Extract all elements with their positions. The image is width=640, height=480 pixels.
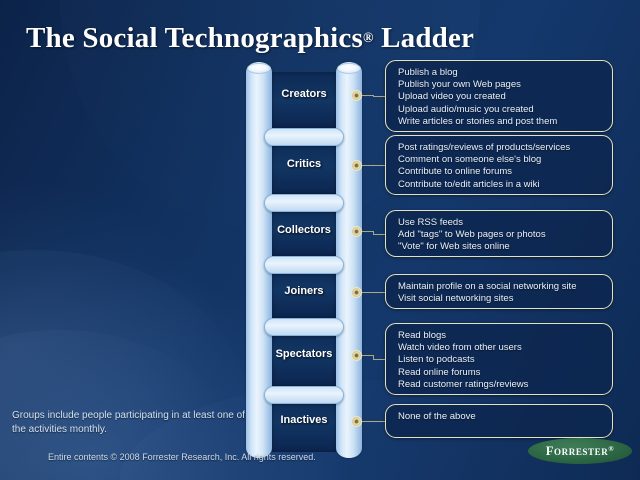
connector-line-h-spectators (362, 355, 373, 356)
forrester-logo: Forrester® (528, 438, 632, 464)
callout-activity: "Vote" for Web sites online (398, 241, 604, 253)
callout-activity: Use RSS feeds (398, 217, 604, 229)
ladder-step-label-collectors: Collectors (260, 224, 348, 236)
ladder-rail-left-cap (247, 63, 271, 74)
callout-activity: Visit social networking sites (398, 293, 604, 305)
page-title-main: The Social Technographics (26, 22, 363, 54)
callout-activity: Listen to podcasts (398, 354, 604, 366)
callout-spectators: Read blogsWatch video from other usersLi… (385, 323, 613, 395)
ladder-rung-3 (264, 256, 344, 274)
callout-activity: Read customer ratings/reviews (398, 379, 604, 391)
connector-line-h-creators (362, 95, 373, 96)
forrester-wordmark-text: Forrester (546, 444, 609, 458)
connector-line-h-inactives (362, 421, 373, 422)
callout-activity: Post ratings/reviews of products/service… (398, 142, 604, 154)
ladder-step-panel-creators (272, 72, 336, 128)
background-swoosh-1 (0, 250, 250, 480)
ladder-step-label-creators: Creators (260, 88, 348, 100)
ladder-diagram: CreatorsCriticsCollectorsJoinersSpectato… (246, 62, 362, 458)
ladder-rung-5 (264, 386, 344, 404)
connector-dot-creators (351, 90, 362, 101)
connector-line-h-joiners (362, 292, 373, 293)
callout-activity: Read blogs (398, 330, 604, 342)
callout-critics: Post ratings/reviews of products/service… (385, 135, 613, 195)
ladder-rung-2 (264, 194, 344, 212)
ladder-step-label-spectators: Spectators (260, 348, 348, 360)
callout-collectors: Use RSS feedsAdd "tags" to Web pages or … (385, 210, 613, 257)
callout-activity: Publish a blog (398, 67, 604, 79)
callout-activity: Read online forums (398, 367, 604, 379)
callout-activity: Add "tags" to Web pages or photos (398, 229, 604, 241)
page-title-suffix: Ladder (374, 22, 475, 54)
page-title: The Social Technographics® Ladder (26, 22, 474, 55)
ladder-step-label-joiners: Joiners (260, 285, 348, 297)
callout-activity: Upload video you created (398, 91, 604, 103)
connector-dot-joiners (351, 287, 362, 298)
ladder-rail-right-cap (337, 63, 361, 74)
ladder-step-label-inactives: Inactives (260, 414, 348, 426)
forrester-wordmark: Forrester® (546, 444, 614, 459)
callout-activity: Watch video from other users (398, 342, 604, 354)
callout-creators: Publish a blogPublish your own Web pages… (385, 60, 613, 132)
connector-line-h-collectors (362, 231, 373, 232)
callout-activity: Write articles or stories and post them (398, 116, 604, 128)
connector-dot-inactives (351, 416, 362, 427)
ladder-rung-4 (264, 318, 344, 336)
forrester-trademark-symbol: ® (608, 445, 614, 453)
connector-dot-spectators (351, 350, 362, 361)
copyright-text: Entire contents © 2008 Forrester Researc… (48, 452, 316, 462)
slide-canvas: The Social Technographics® Ladder Creato… (0, 0, 640, 480)
callout-activity: None of the above (398, 411, 604, 423)
callout-activity: Maintain profile on a social networking … (398, 281, 604, 293)
connector-dot-critics (351, 160, 362, 171)
ladder-step-label-critics: Critics (260, 158, 348, 170)
callout-activity: Contribute to/edit articles in a wiki (398, 179, 604, 191)
ladder-rung-1 (264, 128, 344, 146)
connector-dot-collectors (351, 226, 362, 237)
callout-activity: Publish your own Web pages (398, 79, 604, 91)
connector-line-h-critics (362, 165, 373, 166)
callout-activity: Comment on someone else's blog (398, 154, 604, 166)
callout-activity: Upload audio/music you created (398, 104, 604, 116)
registered-trademark-symbol: ® (363, 31, 374, 46)
callout-joiners: Maintain profile on a social networking … (385, 274, 613, 309)
footnote-text: Groups include people participating in a… (12, 409, 252, 436)
callout-activity: Contribute to online forums (398, 166, 604, 178)
